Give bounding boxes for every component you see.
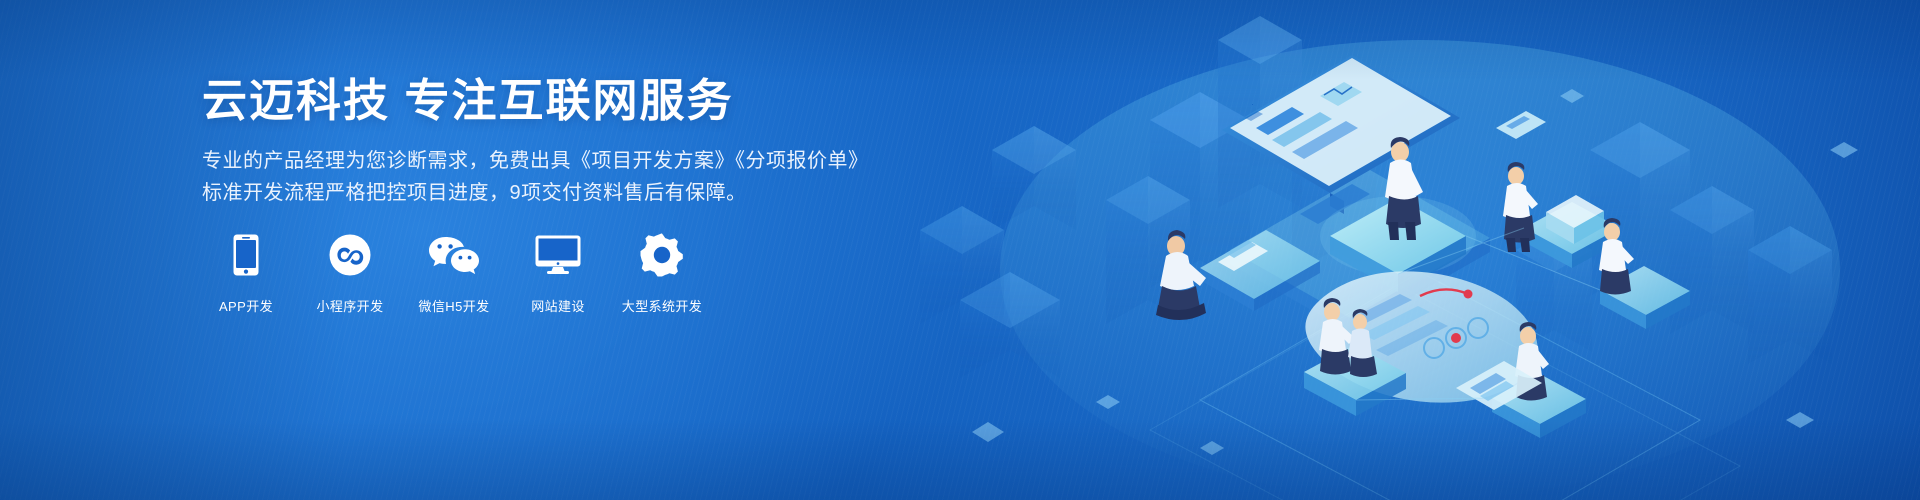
- hero-banner: 云迈科技 专注互联网服务 专业的产品经理为您诊断需求，免费出具《项目开发方案》《…: [0, 0, 1920, 500]
- page-title: 云迈科技 专注互联网服务: [202, 74, 922, 127]
- mobile-phone-icon: [233, 232, 259, 278]
- service-label: APP开发: [219, 296, 273, 315]
- service-label: 微信H5开发: [418, 296, 489, 315]
- mini-program-icon: [329, 232, 371, 278]
- service-item-website[interactable]: 网站建设: [518, 232, 598, 315]
- gear-icon: [640, 232, 684, 278]
- subtitle-line-1: 专业的产品经理为您诊断需求，免费出具《项目开发方案》《分项报价单》: [202, 145, 922, 177]
- service-item-wechat[interactable]: 微信H5开发: [414, 232, 494, 315]
- banner-copy: 云迈科技 专注互联网服务 专业的产品经理为您诊断需求，免费出具《项目开发方案》《…: [202, 74, 922, 210]
- monitor-icon: [535, 232, 581, 278]
- service-item-miniprogram[interactable]: 小程序开发: [310, 232, 390, 315]
- service-label: 大型系统开发: [622, 296, 702, 315]
- wechat-icon: [428, 232, 480, 278]
- isometric-illustration: [900, 0, 1920, 500]
- service-label: 网站建设: [531, 296, 585, 315]
- service-item-system[interactable]: 大型系统开发: [622, 232, 702, 315]
- banner-subtitle: 专业的产品经理为您诊断需求，免费出具《项目开发方案》《分项报价单》 标准开发流程…: [202, 145, 922, 210]
- service-item-app[interactable]: APP开发: [206, 232, 286, 315]
- service-list: APP开发 小程序开发 微信: [206, 232, 702, 315]
- subtitle-line-2: 标准开发流程严格把控项目进度，9项交付资料售后有保障。: [202, 177, 922, 209]
- service-label: 小程序开发: [316, 296, 383, 315]
